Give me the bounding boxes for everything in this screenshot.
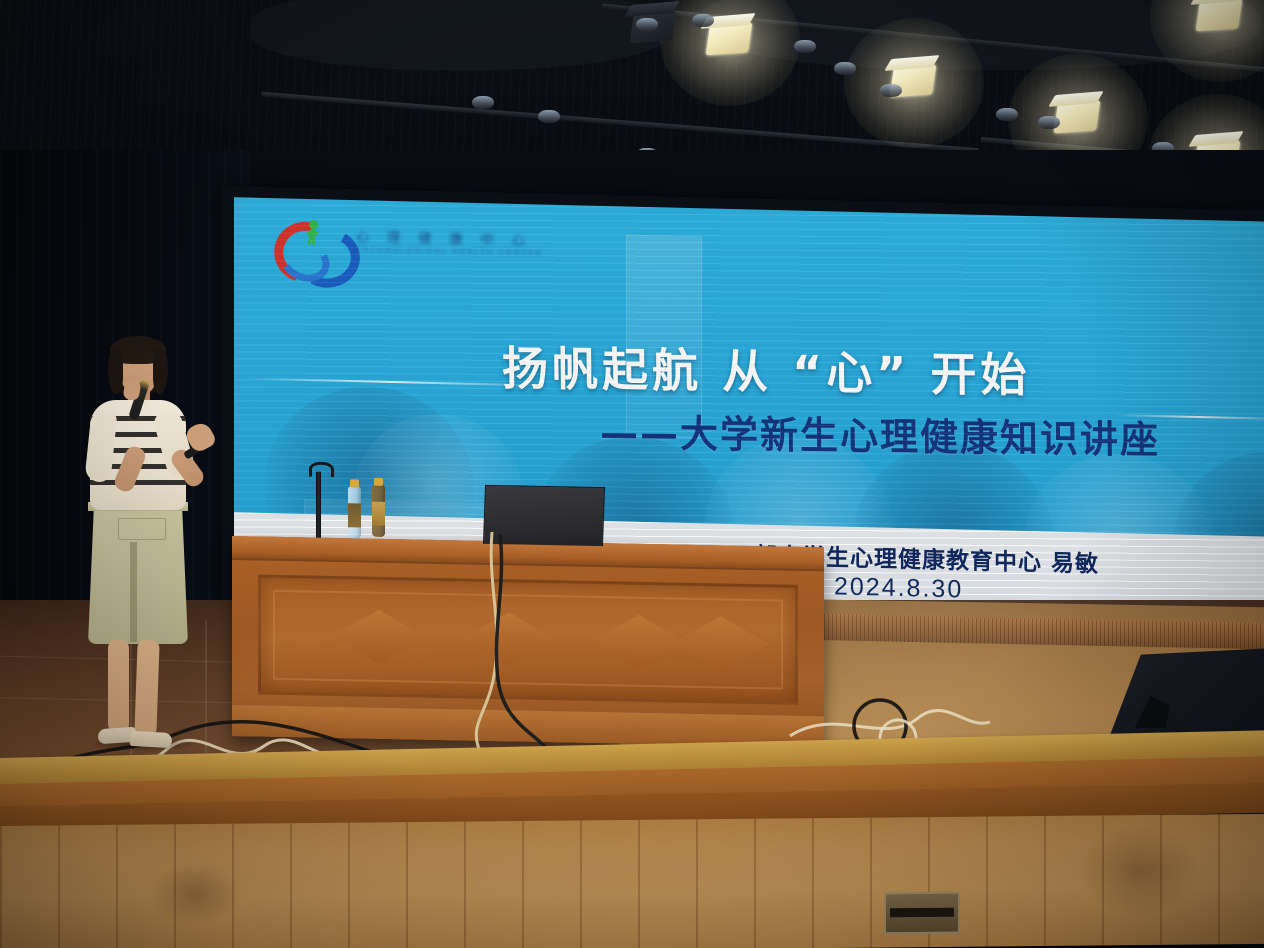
water-bottle (348, 486, 361, 538)
logo-person-icon (300, 220, 326, 253)
presenter-skirt (88, 504, 188, 644)
presenter-skirt-pocket (118, 518, 166, 540)
laptop (483, 485, 605, 546)
stage-light-body (1196, 0, 1243, 31)
floor-vent-panel (884, 892, 960, 935)
auditorium-stage-photo: 心 理 健 康 中 心 PSYCHOLOGICAL HEALTH CENTER … (0, 0, 1264, 948)
apron-stain-1 (1080, 824, 1200, 915)
microphone-stand (316, 472, 321, 538)
presenter-skirt-slit (130, 542, 137, 642)
presenter-hair-right (153, 348, 168, 394)
can-light-4 (834, 62, 856, 75)
logo-person-body (306, 229, 319, 245)
presenter-shoe-right (130, 731, 173, 748)
logo-person-head (309, 220, 318, 229)
presenter-leg-right (134, 640, 159, 737)
apron-stain-2 (150, 864, 240, 925)
can-light-3 (794, 40, 816, 53)
can-light-14 (472, 96, 494, 109)
background-photo-whiteboard (626, 235, 702, 439)
psychological-health-center-logo (274, 214, 346, 274)
bottle-label (372, 502, 385, 526)
bottle-label (348, 503, 361, 527)
slide-subtitle: ——大学新生心理健康知识讲座 (600, 414, 1160, 461)
ceiling-truss-1 (250, 0, 670, 70)
bottle-cap (374, 478, 383, 486)
lectern-front-panel (258, 574, 798, 704)
logo-org-text: 心 理 健 康 中 心 PSYCHOLOGICAL HEALTH CENTER (356, 226, 556, 263)
presenter-leg-left (108, 640, 129, 732)
can-light-2 (692, 14, 714, 27)
presenter-hair-left (108, 348, 123, 394)
tea-bottle (372, 485, 385, 537)
lectern (232, 536, 824, 747)
bottle-cap (350, 479, 359, 487)
presenter (60, 336, 240, 766)
can-light-7 (1038, 116, 1060, 129)
can-light-6 (996, 108, 1018, 121)
can-light-1 (636, 18, 658, 31)
slide-title: 扬帆起航 从 “心” 开始 (502, 344, 1031, 399)
decor-line-left (242, 377, 542, 386)
can-light-5 (880, 84, 902, 97)
can-light-15 (538, 110, 560, 123)
stage-apron-wall (0, 814, 1264, 948)
